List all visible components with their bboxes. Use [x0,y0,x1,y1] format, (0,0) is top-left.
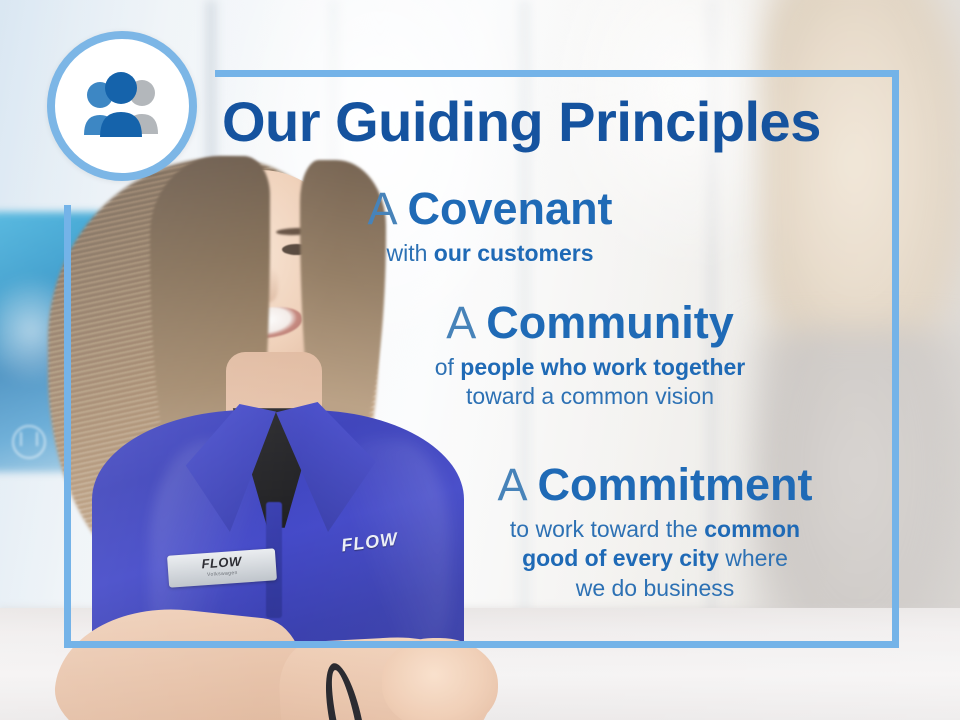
principle-subtext: with our customers [300,239,680,268]
principle-article: A [367,183,395,234]
principle-commitment: A Commitment to work toward the common g… [420,462,890,603]
clasped-hands [382,638,498,720]
frame-bottom-edge [64,641,899,648]
subtext-plain: where [719,545,788,571]
frame-left-edge [64,205,71,648]
principle-heading: A Commitment [420,462,890,509]
principle-word: Covenant [408,183,613,234]
principle-covenant: A Covenant with our customers [300,186,680,268]
principle-article: A [497,459,525,510]
subtext-plain: with [386,240,433,266]
frame-right-edge [892,70,899,648]
subtext-bold: people who work together [460,354,745,380]
people-group-icon-badge [47,31,197,181]
frame-top-edge [215,70,899,77]
page-title: Our Guiding Principles [222,93,882,150]
principle-heading: A Community [360,300,820,347]
subtext-plain: to work toward the [510,516,704,542]
people-group-icon [74,71,170,141]
principle-heading: A Covenant [300,186,680,233]
subtext-plain: toward a common vision [466,383,714,409]
subtext-plain: of [435,354,461,380]
subtext-plain: we do business [576,575,735,601]
principle-article: A [446,297,474,348]
principle-word: Community [486,297,734,348]
principle-word: Commitment [538,459,813,510]
subtext-bold: our customers [434,240,594,266]
principle-subtext: of people who work together toward a com… [360,353,820,412]
subtext-bold: common [704,516,800,542]
subtext-bold: good of every city [522,545,719,571]
principle-community: A Community of people who work together … [360,300,820,412]
banner-graphic: FLOW Volkswagen FLOW Our [0,0,960,720]
principle-subtext: to work toward the common good of every … [420,515,890,603]
